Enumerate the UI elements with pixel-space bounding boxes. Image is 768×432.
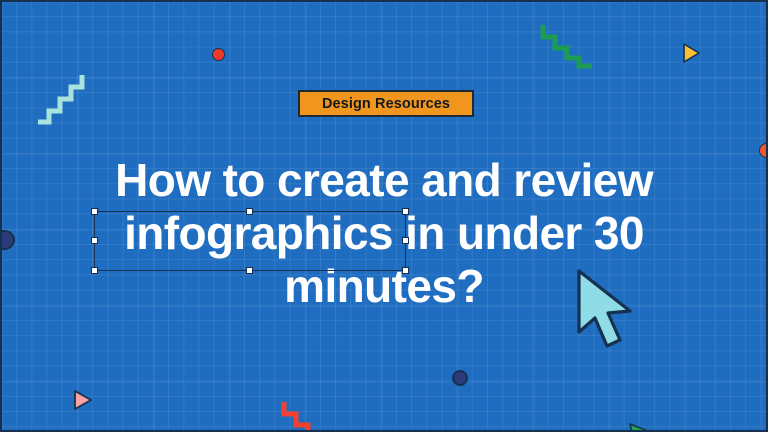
- arrow-pointer-icon: [575, 268, 645, 354]
- resize-handle-top-left[interactable]: [91, 208, 98, 215]
- triangle-green-icon: [626, 421, 652, 432]
- resize-handle-top-right[interactable]: [402, 208, 409, 215]
- triangle-pink-icon: [70, 387, 96, 413]
- resize-handle-bottom-right[interactable]: [402, 267, 409, 274]
- dot-navy-bottom-icon: [452, 370, 468, 386]
- category-badge[interactable]: Design Resources: [298, 90, 474, 117]
- resize-handle-middle-left[interactable]: [91, 237, 98, 244]
- dot-red-top-icon: [212, 48, 225, 61]
- resize-handle-bottom-left[interactable]: [91, 267, 98, 274]
- zigzag-teal-icon: [32, 68, 92, 128]
- page-title-line-1: How to create and review: [2, 154, 766, 207]
- zigzag-red-icon: [278, 398, 334, 432]
- zigzag-green-icon: [538, 18, 610, 74]
- triangle-yellow-icon: [679, 41, 703, 65]
- category-badge-label: Design Resources: [322, 96, 450, 112]
- resize-handle-top-center[interactable]: [246, 208, 253, 215]
- design-canvas[interactable]: Design Resources How to create and revie…: [0, 0, 768, 432]
- selection-bounding-box[interactable]: [94, 211, 406, 271]
- resize-handle-middle-right[interactable]: [402, 237, 409, 244]
- resize-handle-bottom-center[interactable]: [246, 267, 253, 274]
